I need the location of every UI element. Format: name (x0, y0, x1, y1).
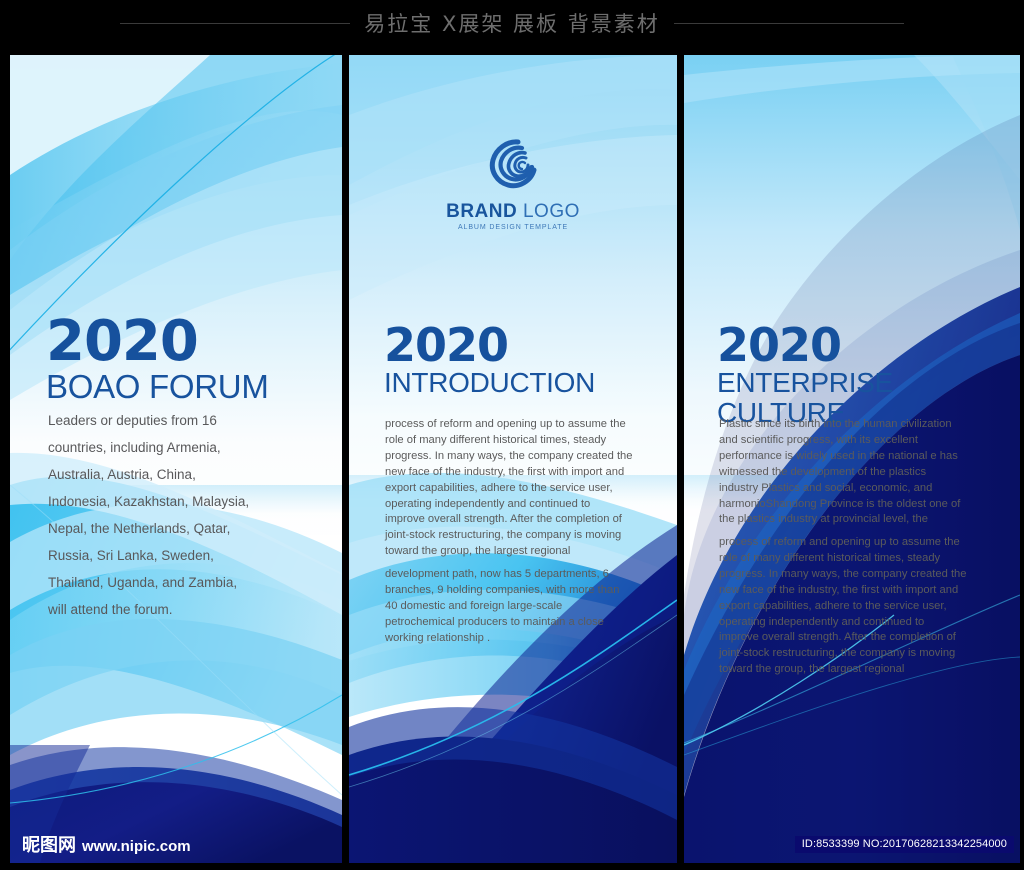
brand-logo-name-light: LOGO (523, 201, 580, 222)
panel-1-body: Leaders or deputies from 16 countries, i… (48, 407, 323, 623)
panel-2-subtitle: INTRODUCTION (384, 368, 595, 398)
panel-1-subtitle: BOAO FORUM (46, 369, 269, 405)
panel-3-body: Plastic since its birth into the human c… (719, 417, 991, 528)
brand-logo-name-bold: BRAND (446, 201, 517, 222)
panel-2-heading: 2020 INTRODUCTION (384, 323, 595, 398)
header-title: 易拉宝 X展架 展板 背景素材 (364, 8, 659, 38)
panel-3-year: 2020 (717, 323, 1020, 368)
panel-2-body: process of reform and opening up to assu… (385, 417, 653, 560)
panel-2-content: BRAND LOGO ALBUM DESIGN TEMPLATE 2020 IN… (349, 55, 677, 863)
header-rule-right (674, 23, 904, 24)
panel-3-heading: 2020 ENTERPRISE CULTURE (717, 323, 1020, 428)
panel-3-content: 2020 ENTERPRISE CULTURE Plastic since it… (684, 55, 1020, 863)
panel-2-year: 2020 (384, 323, 595, 368)
header-rule-left (120, 23, 350, 24)
poster-stage: 易拉宝 X展架 展板 背景素材 (0, 0, 1024, 870)
brand-logo-name: BRAND LOGO (349, 201, 677, 223)
watermark: 昵图网 www.nipic.com (22, 831, 191, 857)
panel-3-body-secondary: process of reform and opening up to assu… (719, 535, 991, 678)
watermark-site-url: www.nipic.com (82, 838, 191, 855)
globe-spiral-icon (481, 132, 545, 196)
header-bar: 易拉宝 X展架 展板 背景素材 (0, 0, 1024, 46)
panel-1-heading: 2020 BOAO FORUM (46, 315, 269, 405)
panel-enterprise-culture[interactable]: 2020 ENTERPRISE CULTURE Plastic since it… (684, 55, 1020, 863)
brand-logo[interactable]: BRAND LOGO ALBUM DESIGN TEMPLATE (349, 132, 677, 231)
panel-2-body-secondary: development path, now has 5 departments,… (385, 567, 653, 647)
panel-1-content: 2020 BOAO FORUM Leaders or deputies from… (10, 55, 342, 863)
panel-introduction[interactable]: BRAND LOGO ALBUM DESIGN TEMPLATE 2020 IN… (349, 55, 677, 863)
panel-1-year: 2020 (46, 315, 269, 369)
watermark-site-name: 昵图网 (22, 831, 76, 857)
brand-logo-tagline: ALBUM DESIGN TEMPLATE (349, 224, 677, 231)
panel-boao-forum[interactable]: 2020 BOAO FORUM Leaders or deputies from… (10, 55, 342, 863)
asset-id-badge: ID:8533399 NO:20170628213342254000 (795, 836, 1014, 853)
